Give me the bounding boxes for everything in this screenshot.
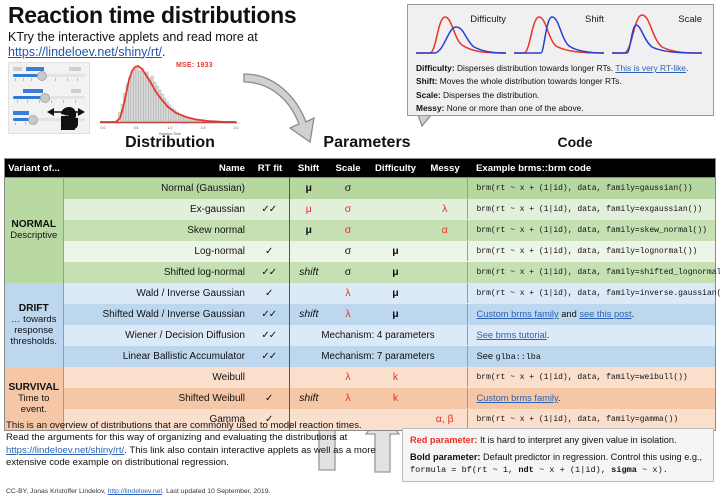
- row-code: brm(rt ~ x + (1|id), data, family=shifte…: [467, 262, 715, 283]
- legend-term-scale: Scale:: [416, 90, 441, 100]
- row-name: Shifted Wald / Inverse Gaussian: [63, 304, 251, 325]
- row-scale: λ: [328, 283, 368, 304]
- mini-chart-shift: Shift: [512, 9, 608, 61]
- row-scale: σ: [328, 199, 368, 220]
- legend-term-messy: Messy:: [416, 103, 444, 113]
- subtitle-text: KTry the interactive applets and read mo…: [8, 30, 258, 44]
- legend-text-shift: Moves the whole distribution towards lon…: [437, 76, 621, 86]
- col-name: Name: [63, 159, 251, 178]
- mini-chart-difficulty-caption: Difficulty: [470, 14, 506, 25]
- footer-shiny-link[interactable]: https://lindeloev.net/shiny/rt/: [6, 445, 124, 456]
- row-difficulty: μ: [368, 304, 423, 325]
- credit-line: CC-BY, Jonas Kristoffer Lindelov, http:/…: [6, 488, 270, 495]
- row-difficulty: [368, 409, 423, 430]
- col-variant: Variant of...: [5, 159, 63, 178]
- row-difficulty: μ: [368, 283, 423, 304]
- legend-term-difficulty: Difficulty:: [416, 63, 455, 73]
- code-link[interactable]: See brms tutorial: [477, 330, 547, 340]
- row-name: Skew normal: [63, 220, 251, 241]
- table-row: NORMALDescriptiveNormal (Gaussian)μσbrm(…: [5, 178, 715, 199]
- row-difficulty: μ: [368, 262, 423, 283]
- code-link[interactable]: Custom brms family: [477, 309, 559, 319]
- distributions-table: Variant of... Name RT fit Shift Scale Di…: [5, 159, 715, 430]
- row-shift: μ: [289, 199, 328, 220]
- legend-text-messy: None or more than one of the above.: [444, 103, 583, 113]
- legend-line-shift: Shift: Moves the whole distribution towa…: [416, 76, 707, 87]
- row-mechanism: Mechanism: 4 parameters: [289, 325, 467, 346]
- svg-text:2.0: 2.0: [234, 126, 239, 130]
- note-formula-sigma: sigma: [611, 465, 637, 475]
- row-code: brm(rt ~ x + (1|id), data, family=gamma(…: [467, 409, 715, 430]
- arrow-distribution-to-parameters: [240, 66, 336, 144]
- credit-post: . Last updated 10 September, 2019.: [162, 488, 270, 495]
- note-formula-pre: e.g.,: [684, 452, 702, 462]
- row-messy: [423, 367, 467, 388]
- parameter-notes-box: Red parameter: It is hard to interpret a…: [402, 428, 714, 482]
- group-label-drift: DRIFT… towards response thresholds.: [5, 283, 63, 367]
- row-code[interactable]: Custom brms family.: [467, 388, 715, 409]
- footer-description: This is an overview of distributions tha…: [6, 420, 376, 470]
- row-name: Wiener / Decision Diffusion: [63, 325, 251, 346]
- legend-line-scale: Scale: Disperses the distribution.: [416, 90, 707, 101]
- col-shift: Shift: [289, 159, 328, 178]
- row-messy: λ: [423, 199, 467, 220]
- row-shift: [289, 241, 328, 262]
- col-rtfit: RT fit: [251, 159, 289, 178]
- page-title: Reaction time distributions: [8, 2, 428, 28]
- row-name: Ex-gaussian: [63, 199, 251, 220]
- note-red-term: Red parameter:: [410, 435, 477, 445]
- row-rtfit: ✓: [251, 241, 289, 262]
- credit-link[interactable]: http://lindeloev.net: [108, 488, 163, 495]
- rt-like-link[interactable]: This is very RT-like: [615, 63, 686, 73]
- svg-text:1.0: 1.0: [168, 126, 173, 130]
- legend-term-shift: Shift:: [416, 76, 437, 86]
- row-code[interactable]: Custom brms family and see this post.: [467, 304, 715, 325]
- row-rtfit: [251, 220, 289, 241]
- row-difficulty: μ: [368, 241, 423, 262]
- col-messy: Messy: [423, 159, 467, 178]
- row-rtfit: ✓✓: [251, 262, 289, 283]
- row-rtfit: [251, 178, 289, 199]
- row-name: Shifted Weibull: [63, 388, 251, 409]
- row-name: Wald / Inverse Gaussian: [63, 283, 251, 304]
- table-row: Log-normal✓σμbrm(rt ~ x + (1|id), data, …: [5, 241, 715, 262]
- row-difficulty: k: [368, 388, 423, 409]
- row-difficulty: [368, 220, 423, 241]
- row-code[interactable]: See brms tutorial.: [467, 325, 715, 346]
- row-name: Log-normal: [63, 241, 251, 262]
- parameter-legend-box: Difficulty Shift Scale Difficulty: Dispe…: [407, 4, 714, 116]
- row-messy: α, β: [423, 409, 467, 430]
- page-header: Reaction time distributions KTry the int…: [8, 2, 428, 59]
- note-bold-text: Default predictor in regression. Control…: [480, 452, 681, 462]
- col-difficulty: Difficulty: [368, 159, 423, 178]
- row-rtfit: ✓✓: [251, 325, 289, 346]
- code-link[interactable]: see this post: [579, 309, 631, 319]
- row-scale: σ: [328, 262, 368, 283]
- row-rtfit: ✓✓: [251, 304, 289, 325]
- label-distribution: Distribution: [100, 134, 240, 152]
- row-scale: λ: [328, 367, 368, 388]
- row-name: Normal (Gaussian): [63, 178, 251, 199]
- col-code: Example brms::brm code: [467, 159, 715, 178]
- table-row: Shifted Weibull✓shiftλkCustom brms famil…: [5, 388, 715, 409]
- row-shift: μ: [289, 220, 328, 241]
- mini-chart-scale: Scale: [610, 9, 706, 61]
- table-row: Linear Ballistic Accumulator✓✓Mechanism:…: [5, 346, 715, 367]
- row-shift: shift: [289, 262, 328, 283]
- row-shift: μ: [289, 178, 328, 199]
- row-messy: [423, 178, 467, 199]
- row-difficulty: [368, 199, 423, 220]
- mini-charts-row: Difficulty Shift Scale: [412, 9, 709, 61]
- credit-pre: CC-BY, Jonas Kristoffer Lindelov,: [6, 488, 108, 495]
- row-rtfit: ✓✓: [251, 346, 289, 367]
- row-messy: [423, 388, 467, 409]
- row-difficulty: [368, 178, 423, 199]
- shiny-applet-link[interactable]: https://lindeloev.net/shiny/rt/: [8, 45, 162, 59]
- slider-group-1[interactable]: [13, 67, 85, 82]
- row-rtfit: ✓✓: [251, 199, 289, 220]
- note-red-parameter: Red parameter: It is hard to interpret a…: [410, 434, 706, 446]
- table-row: Skew normalμσαbrm(rt ~ x + (1|id), data,…: [5, 220, 715, 241]
- row-scale: λ: [328, 388, 368, 409]
- row-messy: [423, 304, 467, 325]
- code-link[interactable]: Custom brms family: [477, 393, 558, 403]
- distributions-table-wrapper: Variant of... Name RT fit Shift Scale Di…: [4, 158, 716, 431]
- table-header-row: Variant of... Name RT fit Shift Scale Di…: [5, 159, 715, 178]
- row-code: brm(rt ~ x + (1|id), data, family=weibul…: [467, 367, 715, 388]
- note-formula-a: formula = bf(rt ~ 1,: [410, 465, 518, 475]
- table-row: Shifted log-normal✓✓shiftσμbrm(rt ~ x + …: [5, 262, 715, 283]
- note-bold-term: Bold parameter:: [410, 452, 480, 462]
- row-code: brm(rt ~ x + (1|id), data, family=exgaus…: [467, 199, 715, 220]
- row-code: brm(rt ~ x + (1|id), data, family=invers…: [467, 283, 715, 304]
- legend-line-difficulty: Difficulty: Disperses distribution towar…: [416, 63, 707, 74]
- row-rtfit: [251, 367, 289, 388]
- table-row: DRIFT… towards response thresholds.Wald …: [5, 283, 715, 304]
- row-rtfit: ✓: [251, 388, 289, 409]
- mini-chart-scale-caption: Scale: [678, 14, 702, 25]
- row-shift: [289, 283, 328, 304]
- legend-line-messy: Messy: None or more than one of the abov…: [416, 103, 707, 114]
- row-scale: σ: [328, 220, 368, 241]
- row-code[interactable]: See glba::lba: [467, 346, 715, 367]
- row-name: Linear Ballistic Accumulator: [63, 346, 251, 367]
- table-row: Wiener / Decision Diffusion✓✓Mechanism: …: [5, 325, 715, 346]
- table-row: Ex-gaussian✓✓μσλbrm(rt ~ x + (1|id), dat…: [5, 199, 715, 220]
- row-messy: α: [423, 220, 467, 241]
- row-scale: λ: [328, 304, 368, 325]
- svg-text:0.5: 0.5: [134, 126, 139, 130]
- row-messy: [423, 262, 467, 283]
- legend-tail-difficulty: .: [686, 63, 688, 73]
- note-red-text: It is hard to interpret any given value …: [477, 435, 676, 445]
- legend-text-scale: Disperses the distribution.: [441, 90, 540, 100]
- slider-1-ticks: [13, 78, 85, 82]
- svg-text:0.0: 0.0: [101, 126, 106, 130]
- slider-1-track[interactable]: [13, 74, 85, 77]
- legend-text-difficulty: Disperses distribution towards longer RT…: [455, 63, 616, 73]
- table-row: SURVIVALTime to event.Weibullλkbrm(rt ~ …: [5, 367, 715, 388]
- slider-2-labels: [13, 89, 85, 94]
- row-code: brm(rt ~ x + (1|id), data, family=lognor…: [467, 241, 715, 262]
- row-code: brm(rt ~ x + (1|id), data, family=gaussi…: [467, 178, 715, 199]
- slider-group-2[interactable]: [13, 89, 85, 104]
- row-name: Weibull: [63, 367, 251, 388]
- note-formula-ndt: ndt: [518, 465, 533, 475]
- label-code: Code: [440, 134, 710, 150]
- note-formula-e: ~ x).: [637, 465, 668, 475]
- row-shift: shift: [289, 388, 328, 409]
- row-name: Shifted log-normal: [63, 262, 251, 283]
- svg-text:1.5: 1.5: [201, 126, 206, 130]
- row-messy: [423, 241, 467, 262]
- mini-chart-shift-caption: Shift: [585, 14, 604, 25]
- row-shift: shift: [289, 304, 328, 325]
- slider-2-track[interactable]: [13, 96, 85, 99]
- mini-chart-difficulty: Difficulty: [414, 9, 510, 61]
- page-subtitle: KTry the interactive applets and read mo…: [8, 30, 428, 59]
- row-code: brm(rt ~ x + (1|id), data, family=skew_n…: [467, 220, 715, 241]
- table-row: Shifted Wald / Inverse Gaussian✓✓shiftλμ…: [5, 304, 715, 325]
- shiny-app-thumbnail[interactable]: [8, 62, 90, 134]
- mse-label: MSE: 1933: [176, 62, 213, 69]
- subtitle-period: .: [162, 45, 165, 59]
- row-shift: [289, 367, 328, 388]
- row-scale: σ: [328, 241, 368, 262]
- group-label-normal: NORMALDescriptive: [5, 178, 63, 283]
- row-scale: σ: [328, 178, 368, 199]
- note-formula-c: ~ x + (1|id),: [534, 465, 611, 475]
- col-scale: Scale: [328, 159, 368, 178]
- hand-cursor-icon: [45, 103, 87, 131]
- row-difficulty: k: [368, 367, 423, 388]
- label-parameters: Parameters: [292, 134, 442, 152]
- footer-paragraph-1: This is an overview of distributions tha…: [6, 420, 362, 443]
- row-mechanism: Mechanism: 7 parameters: [289, 346, 467, 367]
- table-header: Variant of... Name RT fit Shift Scale Di…: [5, 159, 715, 178]
- table-body: NORMALDescriptiveNormal (Gaussian)μσbrm(…: [5, 178, 715, 430]
- slider-1-labels: [13, 67, 85, 72]
- rt-histogram-plot: 0.00.51.0 1.52.0 Reaction Time: [96, 60, 244, 136]
- row-messy: [423, 283, 467, 304]
- note-bold-parameter: Bold parameter: Default predictor in reg…: [410, 451, 706, 476]
- row-rtfit: ✓: [251, 283, 289, 304]
